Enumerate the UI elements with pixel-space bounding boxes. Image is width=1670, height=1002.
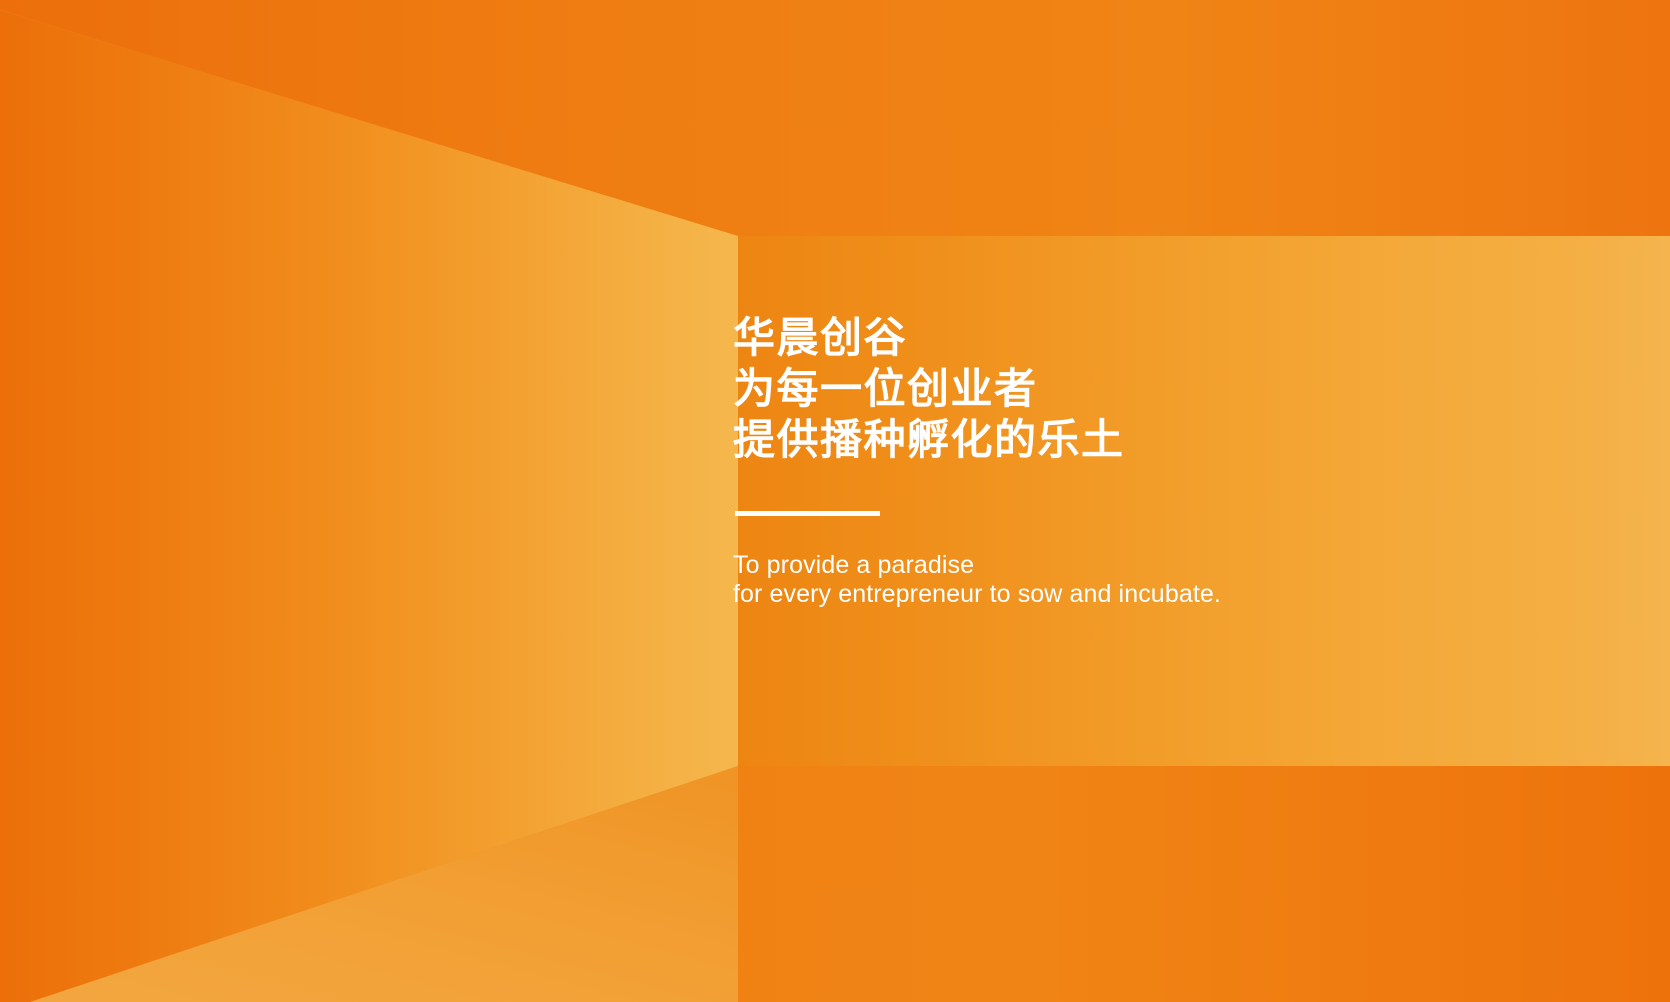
page-title: 华晨创谷 为每一位创业者 提供播种孵化的乐土: [733, 312, 1493, 465]
hero-text-block: 华晨创谷 为每一位创业者 提供播种孵化的乐土 To provide a para…: [733, 312, 1493, 609]
slide-canvas: 华晨创谷 为每一位创业者 提供播种孵化的乐土 To provide a para…: [0, 0, 1670, 1002]
divider: [735, 511, 880, 516]
subtitle-line-2: for every entrepreneur to sow and incuba…: [733, 580, 1493, 609]
subtitle-line-1: To provide a paradise: [733, 551, 1493, 580]
headline-line-3: 提供播种孵化的乐土: [733, 414, 1493, 465]
headline-line-2: 为每一位创业者: [733, 363, 1493, 414]
headline-line-1: 华晨创谷: [733, 312, 1493, 363]
page-subtitle: To provide a paradise for every entrepre…: [733, 551, 1493, 609]
